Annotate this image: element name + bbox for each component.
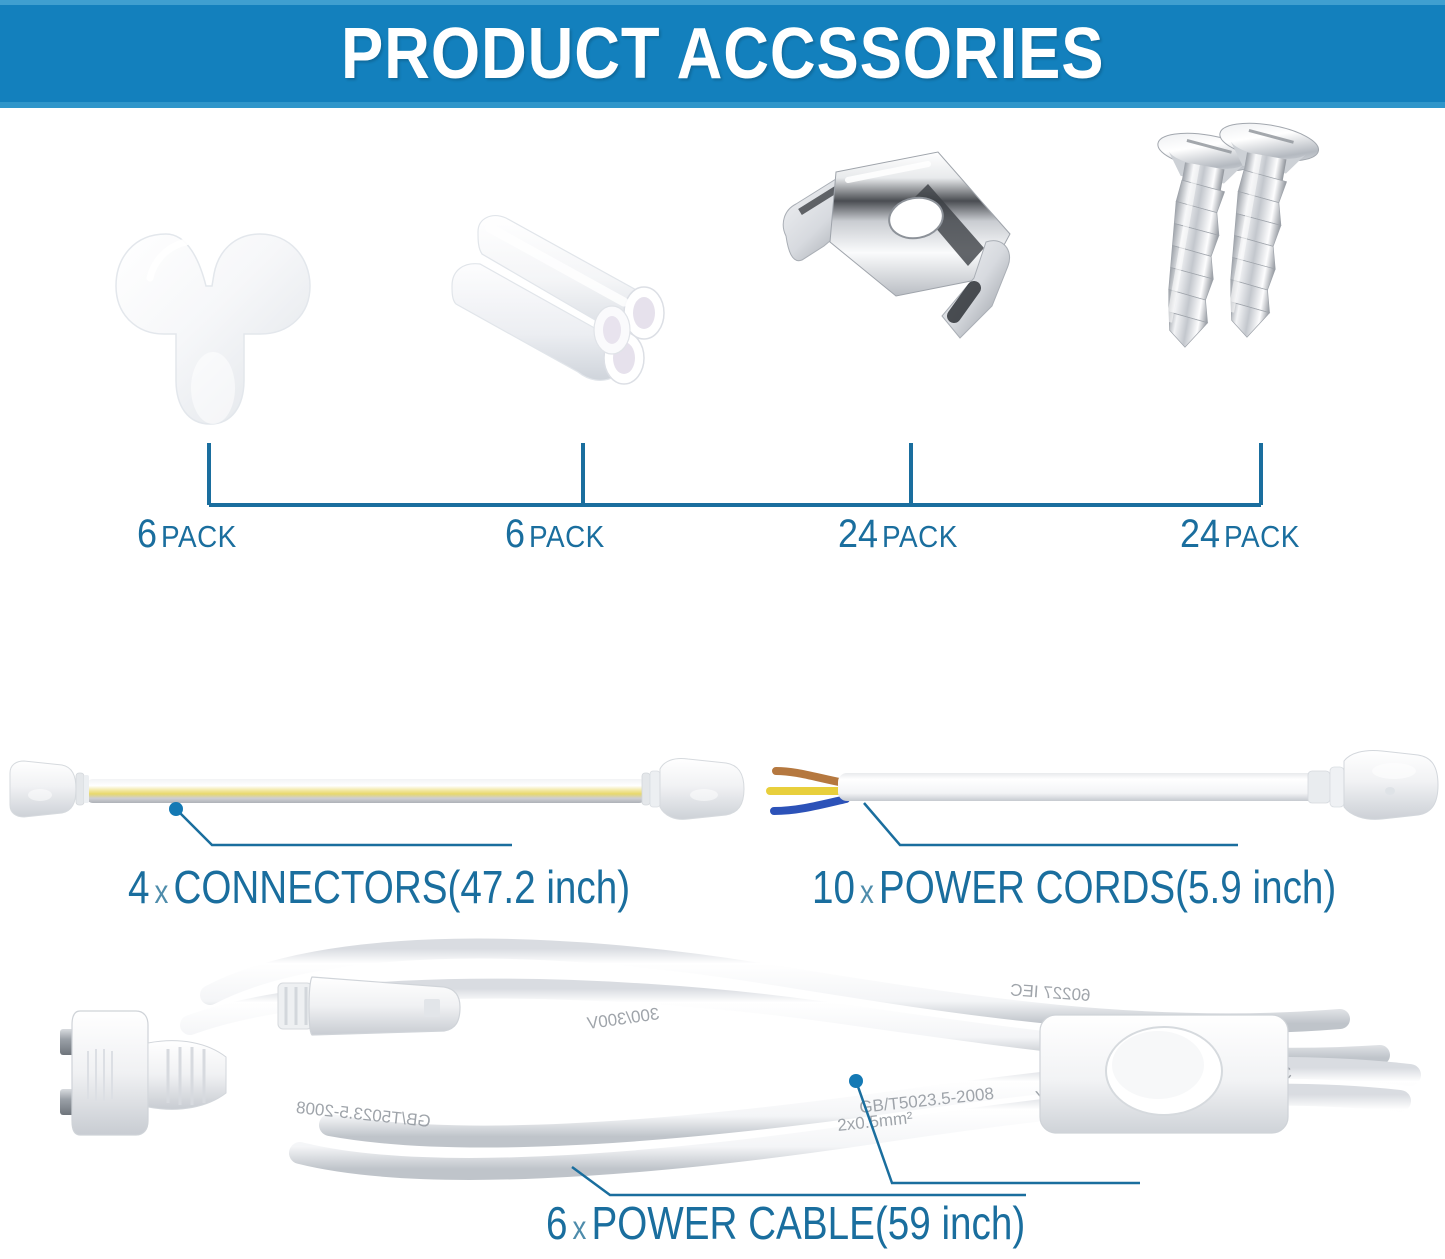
screws-icon (1140, 108, 1360, 438)
pack-unit-2: PACK (529, 519, 605, 554)
connector-cable-icon (0, 745, 760, 870)
connectors-sep: x (149, 873, 173, 910)
power-cable-sep: x (567, 1209, 591, 1246)
power-cords-qty: 10 (812, 861, 855, 913)
pack-label-4: 24 PACK (1180, 512, 1300, 557)
trefoil-connector-clip-icon (100, 108, 330, 438)
pack-qty-4: 24 (1180, 512, 1220, 556)
pack-unit-3: PACK (882, 519, 958, 554)
pack-qty-2: 6 (505, 512, 525, 556)
double-tube-connector-icon (440, 108, 690, 438)
pack-unit-4: PACK (1224, 519, 1300, 554)
power-cable-qty: 6 (546, 1197, 567, 1249)
pack-label-3: 24 PACK (838, 512, 958, 557)
cable-print-mark: 300/300V (585, 1004, 660, 1033)
power-cable-name: POWER CABLE(59 inch) (591, 1197, 1025, 1249)
power-cords-name: POWER CORDS(5.9 inch) (879, 861, 1336, 913)
header-banner: PRODUCT ACCSSORIES (0, 0, 1445, 108)
pack-unit-1: PACK (161, 519, 237, 554)
pack-label-2: 6 PACK (505, 512, 605, 557)
power-cords-label: 10xPOWER CORDS(5.9 inch) (812, 860, 1336, 914)
pack-label-1: 6 PACK (137, 512, 237, 557)
accessory-parts-row (0, 108, 1445, 468)
power-cable-icon: GB/T5023.5-2008 YH 60227 IEC 2x0.5mm² GB… (0, 915, 1445, 1205)
pack-bracket-line (0, 430, 1445, 510)
connectors-label: 4xCONNECTORS(47.2 inch) (128, 860, 630, 914)
pack-qty-1: 6 (137, 512, 157, 556)
power-cords-sep: x (855, 873, 879, 910)
metal-mounting-clip-icon (770, 108, 1020, 438)
pack-qty-3: 24 (838, 512, 878, 556)
page-title: PRODUCT ACCSSORIES (341, 13, 1104, 95)
connectors-qty: 4 (128, 861, 149, 913)
power-cord-icon (760, 745, 1445, 870)
pack-labels-row: 6 PACK 6 PACK 24 PACK 24 PACK (0, 512, 1445, 572)
connectors-name: CONNECTORS(47.2 inch) (173, 861, 630, 913)
power-cable-label: 6xPOWER CABLE(59 inch) (546, 1196, 1025, 1250)
cables-row: 4xCONNECTORS(47.2 inch) (0, 745, 1445, 920)
